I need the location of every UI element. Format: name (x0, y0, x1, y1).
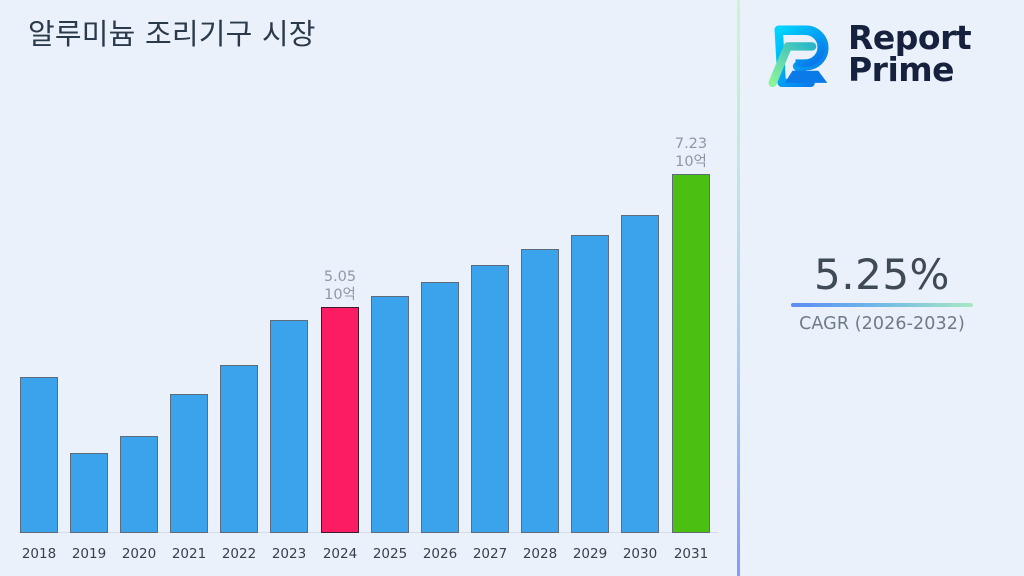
x-tick-2023: 2023 (270, 536, 308, 576)
bar-value-label-2031: 7.23 10억 (675, 135, 707, 171)
brand-panel: Report Prime 5.25% CAGR (2026-2032) (740, 0, 1024, 576)
x-tick-2029: 2029 (571, 536, 609, 576)
x-tick-label: 2019 (72, 546, 106, 562)
bar-2025[interactable] (371, 296, 409, 533)
bar-2022[interactable] (220, 365, 258, 533)
brand-wordmark: Report Prime (848, 22, 971, 87)
report-prime-logo-icon (762, 16, 838, 92)
bar-2030[interactable] (621, 215, 659, 533)
bar-2018[interactable] (20, 377, 58, 533)
x-tick-2028: 2028 (521, 536, 559, 576)
x-tick-2019: 2019 (70, 536, 108, 576)
bar-2026[interactable] (421, 282, 459, 533)
brand-logo: Report Prime (762, 12, 1010, 96)
x-tick-2026: 2026 (421, 536, 459, 576)
x-tick-2025: 2025 (371, 536, 409, 576)
x-tick-2021: 2021 (170, 536, 208, 576)
bar-value-label-2024: 5.05 10억 (324, 268, 356, 304)
brand-name-line-2: Prime (848, 54, 971, 86)
bar-2028[interactable] (521, 249, 559, 533)
x-tick-label: 2024 (323, 546, 357, 562)
x-tick-label: 2021 (172, 546, 206, 562)
bar-chart-plot: 5.05 10억 (0, 0, 738, 576)
bar-value-number: 5.05 (324, 268, 356, 286)
bar-2031[interactable] (672, 174, 710, 533)
x-tick-2027: 2027 (471, 536, 509, 576)
x-tick-2030: 2030 (621, 536, 659, 576)
x-tick-2031: 2031 (672, 536, 710, 576)
bar-2021[interactable] (170, 394, 208, 533)
x-tick-label: 2020 (122, 546, 156, 562)
x-tick-label: 2029 (573, 546, 607, 562)
cagr-value: 5.25% (740, 252, 1024, 297)
x-tick-label: 2030 (623, 546, 657, 562)
x-tick-2018: 2018 (20, 536, 58, 576)
x-tick-label: 2028 (523, 546, 557, 562)
x-tick-label: 2027 (473, 546, 507, 562)
bar-2029[interactable] (571, 235, 609, 533)
bar-2020[interactable] (120, 436, 158, 533)
chart-infographic: 알루미늄 조리기구 시장 5. (0, 0, 1024, 576)
bar-value-unit: 10억 (675, 153, 707, 171)
x-tick-2024: 2024 (321, 536, 359, 576)
bar-value-unit: 10억 (324, 286, 356, 304)
cagr-caption: CAGR (2026-2032) (740, 314, 1024, 334)
x-tick-label: 2026 (423, 546, 457, 562)
x-tick-2022: 2022 (220, 536, 258, 576)
x-tick-label: 2022 (222, 546, 256, 562)
bar-2027[interactable] (471, 265, 509, 533)
bar-2019[interactable] (70, 453, 108, 533)
x-tick-label: 2023 (272, 546, 306, 562)
bar-2023[interactable] (270, 320, 308, 533)
cagr-divider-rule (791, 303, 973, 307)
x-tick-label: 2025 (373, 546, 407, 562)
bar-value-number: 7.23 (675, 135, 707, 153)
cagr-block: 5.25% CAGR (2026-2032) (740, 252, 1024, 334)
x-tick-2020: 2020 (120, 536, 158, 576)
chart-panel: 알루미늄 조리기구 시장 5. (0, 0, 738, 576)
x-tick-label: 2018 (22, 546, 56, 562)
bar-2024[interactable] (321, 307, 359, 533)
x-tick-label: 2031 (674, 546, 708, 562)
